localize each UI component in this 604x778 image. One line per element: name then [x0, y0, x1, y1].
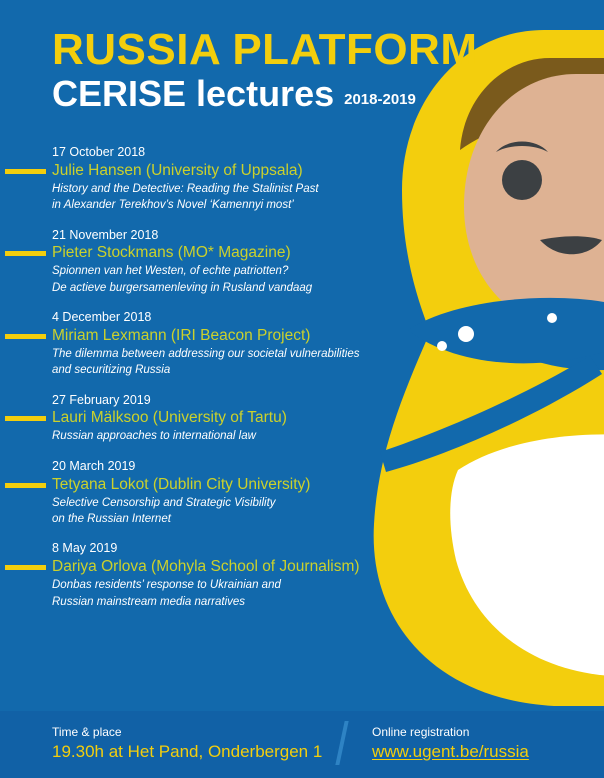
bullet-dash-icon	[5, 334, 46, 339]
lecture-speaker-row: Tetyana Lokot (Dublin City University)	[52, 475, 420, 495]
lecture-speaker: Miriam Lexmann (IRI Beacon Project)	[52, 327, 310, 344]
registration-link[interactable]: www.ugent.be/russia	[372, 741, 529, 763]
doll-dot-small	[437, 341, 447, 351]
footer-divider	[335, 721, 348, 765]
list-item: 20 March 2019 Tetyana Lokot (Dublin City…	[0, 458, 420, 528]
lecture-date: 8 May 2019	[52, 540, 420, 557]
time-place-value: 19.30h at Het Pand, Onderbergen 1	[52, 741, 322, 763]
doll-face	[464, 74, 604, 330]
lecture-description-line: Donbas residents’ response to Ukrainian …	[52, 577, 420, 593]
lecture-speaker-row: Dariya Orlova (Mohyla School of Journali…	[52, 557, 420, 577]
bullet-dash-icon	[5, 416, 46, 421]
academic-year-label: 2018-2019	[344, 91, 416, 113]
lecture-description-line: on the Russian Internet	[52, 511, 420, 527]
lecture-date: 4 December 2018	[52, 309, 420, 326]
lecture-speaker: Dariya Orlova (Mohyla School of Journali…	[52, 558, 360, 575]
lecture-speaker-row: Lauri Mälksoo (University of Tartu)	[52, 408, 420, 428]
lecture-description-line: Selective Censorship and Strategic Visib…	[52, 495, 420, 511]
doll-eye	[502, 160, 542, 200]
lecture-description-line: History and the Detective: Reading the S…	[52, 181, 420, 197]
lecture-description-line: Russian approaches to international law	[52, 428, 420, 444]
lecture-date: 27 February 2019	[52, 392, 420, 409]
lecture-date: 21 November 2018	[52, 227, 420, 244]
doll-dress-top	[464, 318, 604, 370]
doll-dot-small	[547, 313, 557, 323]
page-title: RUSSIA PLATFORM	[52, 28, 477, 73]
poster-canvas: RUSSIA PLATFORM CERISE lectures 2018-201…	[0, 0, 604, 778]
footer-registration-block: Online registration www.ugent.be/russia	[372, 724, 529, 763]
lecture-speaker-row: Pieter Stockmans (MO* Magazine)	[52, 243, 420, 263]
lecture-speaker-row: Julie Hansen (University of Uppsala)	[52, 161, 420, 181]
registration-label: Online registration	[372, 724, 529, 741]
doll-dot-large	[458, 326, 474, 342]
doll-mouth	[540, 236, 602, 254]
lecture-speaker-row: Miriam Lexmann (IRI Beacon Project)	[52, 326, 420, 346]
lecture-description-line: Spionnen van het Westen, of echte patrio…	[52, 263, 420, 279]
lecture-speaker: Julie Hansen (University of Uppsala)	[52, 162, 303, 179]
lecture-date: 20 March 2019	[52, 458, 420, 475]
list-item: 4 December 2018 Miriam Lexmann (IRI Beac…	[0, 309, 420, 379]
lecture-list: 17 October 2018 Julie Hansen (University…	[0, 144, 420, 623]
lecture-description-line: Russian mainstream media narratives	[52, 594, 420, 610]
bullet-dash-icon	[5, 251, 46, 256]
bullet-dash-icon	[5, 483, 46, 488]
list-item: 17 October 2018 Julie Hansen (University…	[0, 144, 420, 214]
page-subtitle: CERISE lectures	[52, 75, 334, 113]
poster-footer: Time & place 19.30h at Het Pand, Onderbe…	[0, 711, 604, 778]
list-item: 21 November 2018 Pieter Stockmans (MO* M…	[0, 227, 420, 297]
doll-apron	[450, 434, 604, 676]
poster-header: RUSSIA PLATFORM CERISE lectures 2018-201…	[52, 28, 477, 113]
lecture-speaker: Tetyana Lokot (Dublin City University)	[52, 476, 310, 493]
lecture-date: 17 October 2018	[52, 144, 420, 161]
footer-time-place-block: Time & place 19.30h at Het Pand, Onderbe…	[52, 724, 322, 763]
lecture-description-line: De actieve burgersamenleving in Rusland …	[52, 280, 420, 296]
lecture-speaker: Pieter Stockmans (MO* Magazine)	[52, 244, 291, 261]
lecture-description-line: The dilemma between addressing our socie…	[52, 346, 420, 362]
time-place-label: Time & place	[52, 724, 322, 741]
list-item: 27 February 2019 Lauri Mälksoo (Universi…	[0, 392, 420, 445]
bullet-dash-icon	[5, 565, 46, 570]
subtitle-row: CERISE lectures 2018-2019	[52, 75, 477, 113]
doll-hair	[460, 58, 604, 150]
lecture-description-line: in Alexander Terekhov’s Novel ‘Kamennyi …	[52, 197, 420, 213]
lecture-speaker: Lauri Mälksoo (University of Tartu)	[52, 409, 287, 426]
list-item: 8 May 2019 Dariya Orlova (Mohyla School …	[0, 540, 420, 610]
lecture-description-line: and securitizing Russia	[52, 362, 420, 378]
doll-eyebrow	[496, 142, 548, 153]
footer-inner: Time & place 19.30h at Het Pand, Onderbe…	[0, 711, 604, 778]
doll-leaf-motif	[408, 298, 604, 363]
bullet-dash-icon	[5, 169, 46, 174]
